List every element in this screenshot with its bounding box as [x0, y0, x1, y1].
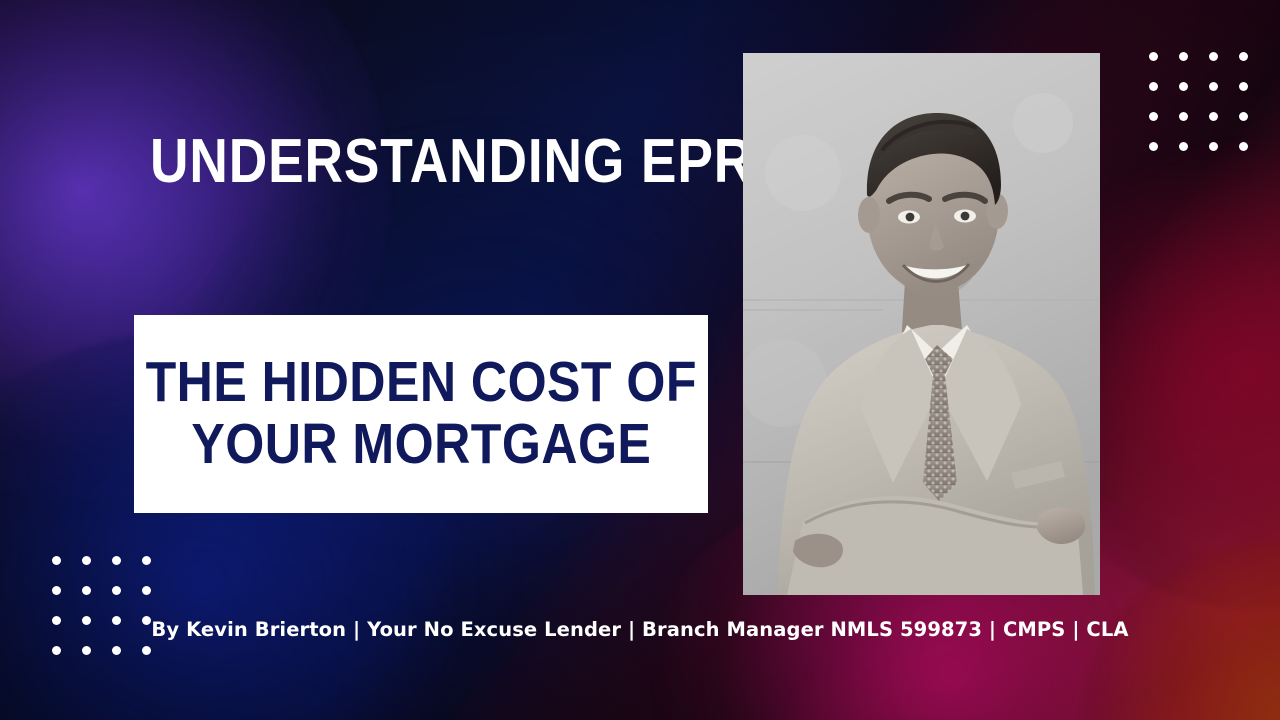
presenter-photo	[743, 53, 1100, 595]
dot	[142, 646, 151, 655]
dot	[1149, 142, 1158, 151]
dot	[142, 556, 151, 565]
dot	[52, 556, 61, 565]
dot	[142, 586, 151, 595]
dot	[1179, 52, 1188, 61]
headline-text: UNDERSTANDING EPR	[150, 127, 753, 196]
subtitle-card: THE HIDDEN COST OF YOUR MORTGAGE	[134, 315, 708, 513]
dot	[1209, 82, 1218, 91]
dot	[52, 586, 61, 595]
dot	[1179, 112, 1188, 121]
dot	[1149, 112, 1158, 121]
dot	[1239, 112, 1248, 121]
slide-headline: UNDERSTANDING EPR™:	[150, 130, 795, 193]
dot	[82, 586, 91, 595]
presentation-slide: UNDERSTANDING EPR™: THE HIDDEN COST OF Y…	[0, 0, 1280, 720]
dot-grid-top-right	[1149, 52, 1248, 151]
dot	[1209, 52, 1218, 61]
dot	[1239, 82, 1248, 91]
dot	[1149, 82, 1158, 91]
portrait-illustration	[743, 53, 1100, 595]
dot	[1239, 52, 1248, 61]
dot	[1179, 82, 1188, 91]
dot	[1239, 142, 1248, 151]
subtitle-line-1: THE HIDDEN COST OF	[145, 352, 696, 414]
subtitle-line-2: YOUR MORTGAGE	[191, 414, 651, 476]
dot	[1209, 112, 1218, 121]
dot	[82, 556, 91, 565]
dot	[1179, 142, 1188, 151]
dot	[112, 586, 121, 595]
dot	[52, 646, 61, 655]
dot	[1209, 142, 1218, 151]
dot	[112, 646, 121, 655]
dot	[112, 556, 121, 565]
dot	[82, 646, 91, 655]
dot	[1149, 52, 1158, 61]
presenter-credit-line: By Kevin Brierton | Your No Excuse Lende…	[0, 618, 1280, 641]
